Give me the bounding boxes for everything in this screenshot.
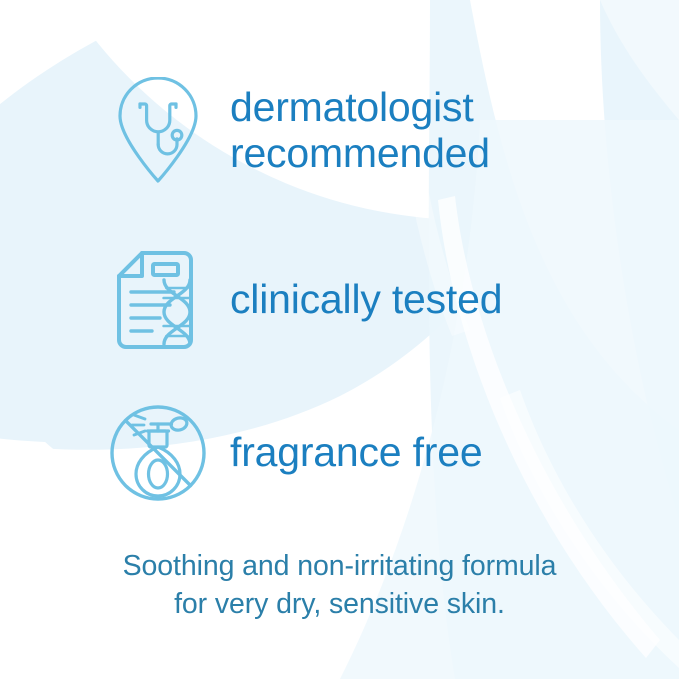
no-fragrance-bottle-icon [109, 404, 207, 502]
product-feature-graphic: dermatologist recommended [0, 0, 679, 679]
feature-icon-wrapper [108, 76, 208, 186]
feature-label-fragrance-free: fragrance free [230, 430, 482, 476]
feature-icon-wrapper [108, 398, 208, 508]
map-pin-stethoscope-icon [112, 77, 204, 185]
feature-icon-wrapper [108, 245, 208, 355]
feature-row-dermatologist-recommended: dermatologist recommended [108, 76, 490, 186]
caption-text: Soothing and non-irritating formula for … [0, 548, 679, 624]
feature-row-fragrance-free: fragrance free [108, 398, 482, 508]
feature-label-dermatologist-recommended: dermatologist recommended [230, 85, 490, 177]
feature-label-clinically-tested: clinically tested [230, 277, 502, 323]
feature-row-clinically-tested: clinically tested [108, 245, 502, 355]
document-dna-icon [112, 248, 204, 352]
